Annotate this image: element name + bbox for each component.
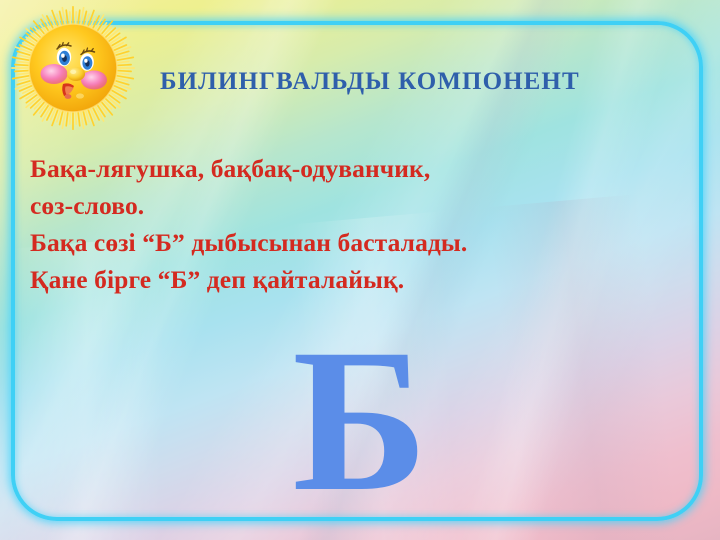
body-line: Бақа-лягушка, бақбақ-одуванчик, — [30, 150, 690, 187]
body-text-block: Бақа-лягушка, бақбақ-одуванчик, сөз-слов… — [30, 150, 690, 298]
big-letter-display: Б — [0, 330, 720, 512]
body-line: Бақа сөзі “Б” дыбысынан басталады. — [30, 224, 690, 261]
body-line: сөз-слово. — [30, 187, 690, 224]
page-title: БИЛИНГВАЛЬДЫ КОМПОНЕНТ — [160, 68, 580, 96]
slide-canvas: БИЛИНГВАЛЬДЫ КОМПОНЕНТ Бақа-лягушка, бақ… — [0, 0, 720, 540]
smiling-sun-icon — [6, 4, 142, 132]
body-line: Қане бірге “Б” деп қайталайық. — [30, 261, 690, 298]
